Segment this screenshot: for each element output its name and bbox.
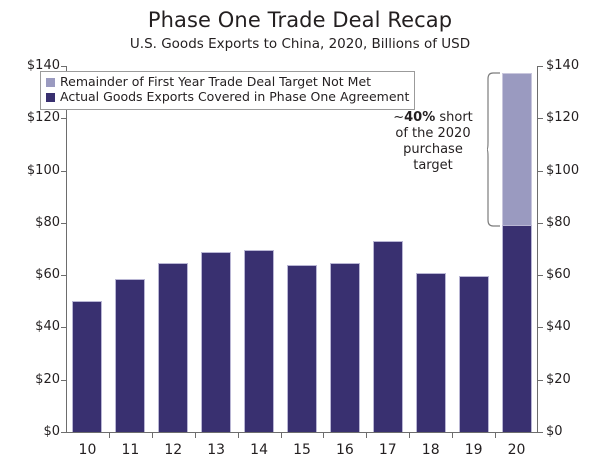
x-axis-tick [152,432,153,438]
y-axis-right-tick-label: $100 [546,164,600,177]
x-axis-label-11: 11 [109,442,152,458]
y-axis-right-tick-label: $0 [546,425,600,438]
bar-segment-actual [115,279,145,432]
annotation-line3: purchase [403,142,463,157]
x-axis-tick [495,432,496,438]
y-axis-left-tick-label: $20 [8,373,60,386]
bar-segment-remainder [502,73,532,226]
bar-10 [72,301,102,432]
y-axis-left-tick-label: $40 [8,320,60,333]
y-axis-right-tick-label: $40 [546,320,600,333]
x-axis-label-10: 10 [66,442,109,458]
legend-label-actual: Actual Goods Exports Covered in Phase On… [60,91,409,104]
annotation-line1-suffix: short [435,110,473,125]
bar-segment-actual [158,263,188,432]
x-axis-tick [281,432,282,438]
legend-item-actual: Actual Goods Exports Covered in Phase On… [46,90,409,105]
legend-label-remainder: Remainder of First Year Trade Deal Targe… [60,76,371,89]
bar-segment-actual [201,252,231,432]
x-axis-label-13: 13 [195,442,238,458]
annotation-line2: of the 2020 [395,126,470,141]
bar-segment-actual [244,250,274,432]
y-axis-left-tick-label: $100 [8,164,60,177]
y-axis-right-tick-label: $20 [546,373,600,386]
chart-container: Phase One Trade Deal Recap U.S. Goods Ex… [0,0,600,459]
chart-legend: Remainder of First Year Trade Deal Targe… [40,71,415,110]
y-axis-right-tick-label: $140 [546,59,600,72]
x-axis-label-19: 19 [452,442,495,458]
bar-20 [502,73,532,432]
x-axis-tick [323,432,324,438]
bar-18 [416,273,446,432]
bar-segment-actual [459,276,489,432]
bar-14 [244,250,274,432]
x-axis-tick [238,432,239,438]
bar-16 [330,263,360,432]
bar-segment-actual [373,241,403,432]
chart-subtitle: U.S. Goods Exports to China, 2020, Billi… [0,36,600,52]
legend-swatch-actual-icon [46,93,55,102]
x-axis-label-18: 18 [409,442,452,458]
bar-15 [287,265,317,432]
y-axis-left-tick-label: $0 [8,425,60,438]
y-axis-left-tick-label: $80 [8,216,60,229]
x-axis-tick [109,432,110,438]
y-axis-left-tick-label: $120 [8,111,60,124]
x-axis-label-12: 12 [152,442,195,458]
x-axis-tick [366,432,367,438]
x-axis-label-17: 17 [366,442,409,458]
bar-segment-actual [502,225,532,432]
y-axis-left-tick-label: $60 [8,268,60,281]
curly-brace-icon [487,72,501,227]
annotation-line1-bold: 40% [404,110,435,125]
bar-11 [115,279,145,432]
x-axis-label-15: 15 [281,442,324,458]
annotation-line1-prefix: ~ [393,110,404,125]
y-axis-right-tick-label: $80 [546,216,600,229]
bar-12 [158,263,188,432]
annotation-text: ~40% short of the 2020 purchase target [378,110,488,174]
bar-segment-actual [330,263,360,432]
x-axis-label-14: 14 [238,442,281,458]
x-axis-tick [195,432,196,438]
x-axis-tick [409,432,410,438]
bar-segment-actual [287,265,317,432]
x-axis-label-20: 20 [495,442,538,458]
annotation-line4: target [413,158,453,173]
chart-title: Phase One Trade Deal Recap [0,8,600,32]
bar-segment-actual [416,273,446,432]
x-axis-tick [452,432,453,438]
y-axis-right-tick-label: $60 [546,268,600,281]
bar-segment-actual [72,301,102,432]
x-axis-label-16: 16 [323,442,366,458]
bar-19 [459,276,489,432]
bar-17 [373,241,403,432]
y-axis-right-tick-label: $120 [546,111,600,124]
bar-13 [201,252,231,432]
legend-item-remainder: Remainder of First Year Trade Deal Targe… [46,75,409,90]
legend-swatch-remainder-icon [46,78,55,87]
